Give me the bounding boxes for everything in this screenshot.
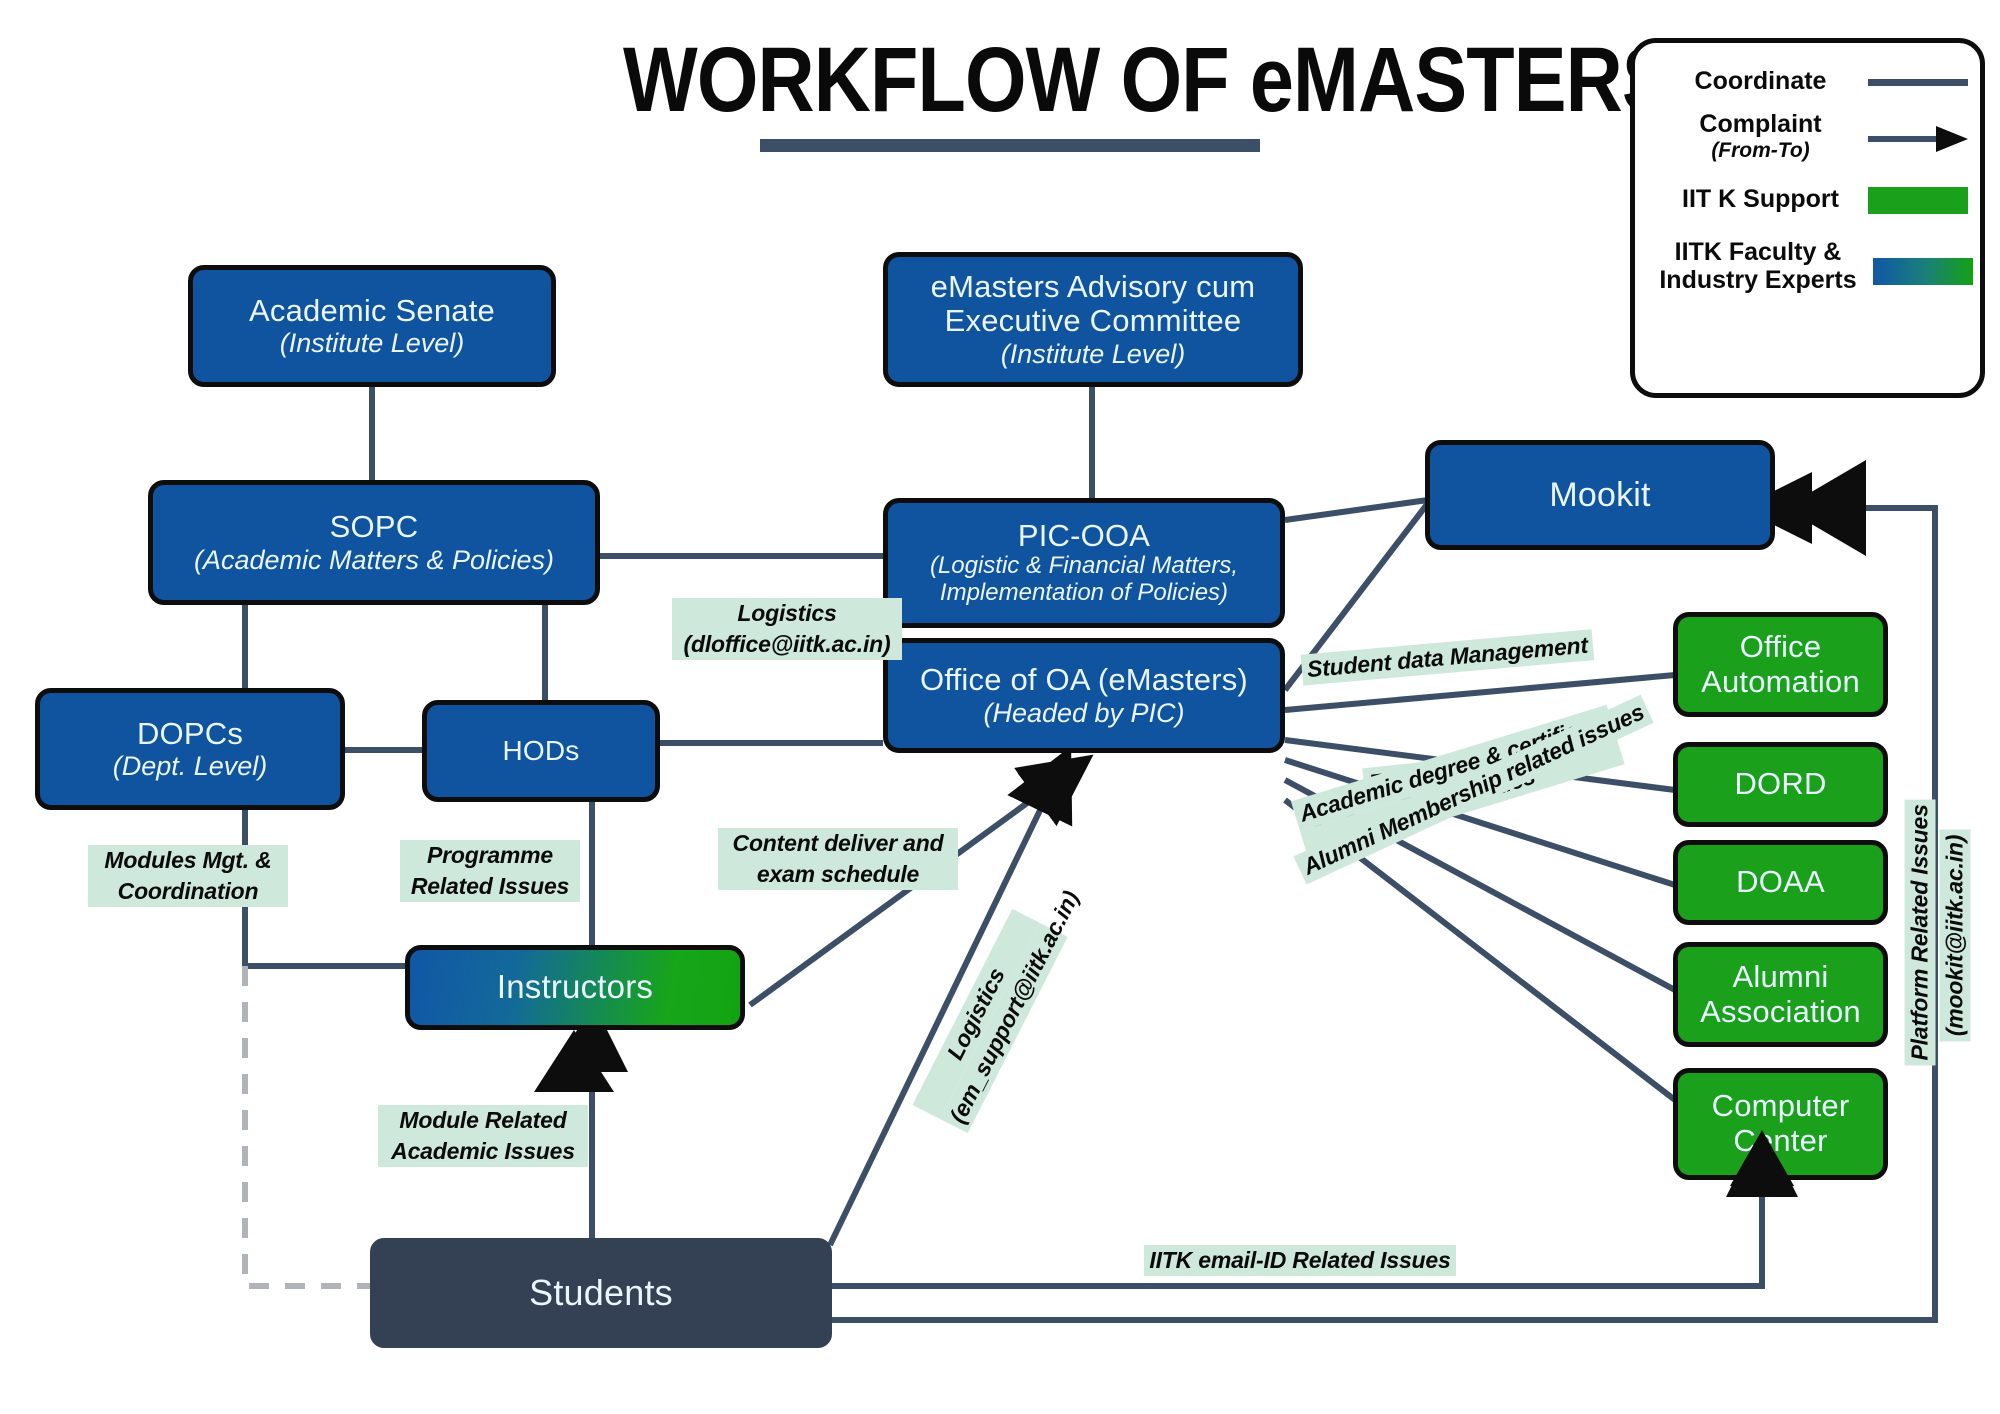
- node-alumni-association-line2: Association: [1700, 995, 1861, 1030]
- label-logistics-dloffice: Logistics (dloffice@iitk.ac.in): [672, 598, 902, 660]
- legend-item-complaint: Complaint (From-To): [1653, 111, 1973, 162]
- label-modules-mgt: Modules Mgt. & Coordination: [88, 845, 288, 907]
- node-advisory-title-line2: Executive Committee: [945, 304, 1242, 339]
- node-dopcs[interactable]: DOPCs (Dept. Level): [35, 688, 345, 810]
- node-pic-ooa[interactable]: PIC-OOA (Logistic & Financial Matters, I…: [883, 498, 1285, 628]
- arrowhead-to-computer-center: [1730, 1130, 1794, 1186]
- legend-label-coordinate: Coordinate: [1653, 68, 1868, 96]
- node-sopc[interactable]: SOPC (Academic Matters & Policies): [148, 480, 600, 605]
- node-pic-ooa-subtitle-line2: Implementation of Policies): [940, 580, 1228, 607]
- node-office-automation-line1: Office: [1740, 630, 1822, 665]
- node-doaa[interactable]: DOAA: [1673, 840, 1888, 925]
- node-mookit[interactable]: Mookit: [1425, 440, 1775, 550]
- label-platform-related-issues-text: Platform Related Issues: [1905, 799, 1936, 1065]
- legend-item-faculty-experts: IITK Faculty & Industry Experts: [1643, 239, 1978, 294]
- title-underline: [760, 139, 1260, 152]
- label-iitk-email-id-related-issues: IITK email-ID Related Issues: [1140, 1245, 1460, 1276]
- page-title: WORKFLOW OF eMASTERS: [560, 28, 1460, 152]
- page-title-text: WORKFLOW OF eMASTERS: [623, 28, 1397, 133]
- node-dopcs-title: DOPCs: [137, 717, 243, 752]
- node-hods-title: HODs: [502, 735, 579, 766]
- arrowhead-to-mookit: [1784, 460, 1866, 556]
- label-content-deliver: Content deliver and exam schedule: [718, 828, 958, 890]
- legend-item-coordinate: Coordinate: [1653, 65, 1973, 99]
- node-alumni-association-line1: Alumni: [1733, 960, 1829, 995]
- node-academic-senate[interactable]: Academic Senate (Institute Level): [188, 265, 556, 387]
- node-office-of-oa-title: Office of OA (eMasters): [920, 663, 1248, 698]
- label-mookit-email: (mookit@iitk.ac.in): [1940, 810, 1971, 1060]
- label-iitk-email-text: IITK email-ID Related Issues: [1144, 1245, 1455, 1276]
- coordinate-line-swatch: [1868, 65, 1973, 99]
- label-content-deliver-line1: Content deliver and: [718, 828, 958, 859]
- gradient-swatch: [1873, 254, 1978, 288]
- label-content-deliver-line2: exam schedule: [718, 859, 958, 890]
- node-office-of-oa[interactable]: Office of OA (eMasters) (Headed by PIC): [883, 638, 1285, 753]
- node-students[interactable]: Students: [370, 1238, 832, 1348]
- node-sopc-title: SOPC: [330, 510, 419, 545]
- label-programme-line2: Related Issues: [400, 871, 580, 902]
- label-module-related-academic-issues: Module Related Academic Issues: [378, 1105, 588, 1167]
- node-dopcs-subtitle: (Dept. Level): [113, 751, 268, 781]
- legend-label-complaint: Complaint: [1699, 110, 1821, 138]
- legend-sub-complaint: (From-To): [1653, 139, 1868, 162]
- node-academic-senate-subtitle: (Institute Level): [280, 328, 465, 358]
- label-logistics-dloffice-line1: Logistics: [672, 598, 902, 629]
- complaint-arrow-swatch: [1868, 122, 1973, 156]
- label-modules-mgt-line2: Coordination: [88, 876, 288, 907]
- node-pic-ooa-title: PIC-OOA: [1018, 519, 1150, 554]
- label-programme-line1: Programme: [400, 840, 580, 871]
- node-dord[interactable]: DORD: [1673, 742, 1888, 827]
- node-alumni-association[interactable]: Alumni Association: [1673, 942, 1888, 1047]
- label-programme-related-issues: Programme Related Issues: [400, 840, 580, 902]
- node-office-of-oa-subtitle: (Headed by PIC): [983, 698, 1184, 728]
- node-hods[interactable]: HODs: [422, 700, 660, 802]
- legend-item-iitk-support: IIT K Support: [1653, 183, 1973, 217]
- label-mookit-email-text: (mookit@iitk.ac.in): [1940, 830, 1971, 1041]
- node-computer-center-line1: Computer: [1712, 1089, 1850, 1124]
- node-doaa-title: DOAA: [1736, 865, 1825, 900]
- label-platform-related-issues: Platform Related Issues: [1905, 805, 1936, 1065]
- label-module-related-line1: Module Related: [378, 1105, 588, 1136]
- label-logistics-dloffice-line2: (dloffice@iitk.ac.in): [672, 629, 902, 660]
- diagram-canvas: WORKFLOW OF eMASTERS Coordinate Complain…: [0, 0, 2000, 1414]
- green-swatch: [1868, 183, 1973, 217]
- node-advisory-subtitle: (Institute Level): [1001, 339, 1186, 369]
- node-emasters-advisory-committee[interactable]: eMasters Advisory cum Executive Committe…: [883, 252, 1303, 387]
- arrowhead-to-instructors: [534, 1030, 614, 1092]
- label-module-related-line2: Academic Issues: [378, 1136, 588, 1167]
- node-advisory-title-line1: eMasters Advisory cum: [931, 270, 1256, 305]
- legend-label-iitk-support: IIT K Support: [1653, 186, 1868, 214]
- node-students-title: Students: [529, 1273, 673, 1313]
- node-sopc-subtitle: (Academic Matters & Policies): [194, 545, 554, 575]
- legend: Coordinate Complaint (From-To) IIT K Sup…: [1630, 38, 1985, 398]
- node-office-automation[interactable]: Office Automation: [1673, 612, 1888, 717]
- legend-label-faculty-line2: Industry Experts: [1659, 266, 1856, 294]
- node-instructors[interactable]: Instructors: [405, 945, 745, 1030]
- node-dord-title: DORD: [1734, 767, 1826, 802]
- legend-label-faculty-line1: IITK Faculty &: [1675, 238, 1842, 266]
- node-pic-ooa-subtitle-line1: (Logistic & Financial Matters,: [930, 553, 1238, 580]
- node-instructors-title: Instructors: [497, 969, 653, 1006]
- node-academic-senate-title: Academic Senate: [249, 294, 495, 329]
- node-office-automation-line2: Automation: [1701, 665, 1860, 700]
- node-mookit-title: Mookit: [1549, 476, 1650, 514]
- label-modules-mgt-line1: Modules Mgt. &: [88, 845, 288, 876]
